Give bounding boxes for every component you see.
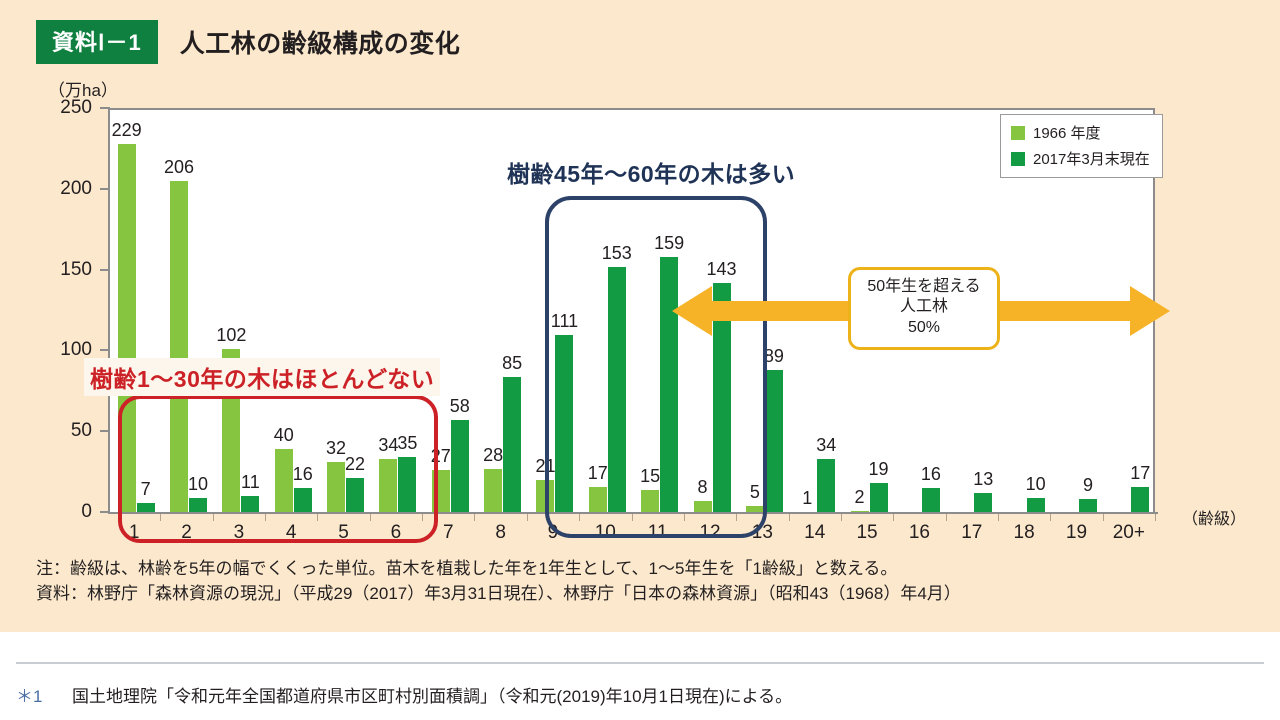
x-axis-tick [1050,514,1051,521]
bar-value-label: 1 [802,488,812,509]
bar-value-label: 9 [1083,475,1093,496]
x-axis-tick-label: 19 [1066,522,1087,544]
legend-swatch-icon [1011,126,1025,140]
y-axis-tick-label: 0 [32,501,92,523]
legend-item-1966: 1966 年度 [1011,122,1150,143]
x-axis-tick [789,514,790,521]
chart-bar [503,377,521,514]
bar-value-label: 19 [869,459,889,480]
x-axis-tick [527,514,528,521]
y-axis-tick [100,349,110,351]
callout-line-2: 人工林 [855,297,993,317]
figure-badge: 資料Ⅰ－1 [36,20,158,64]
bar-value-label: 13 [973,469,993,490]
navy-highlight-box [545,196,767,538]
y-axis-tick [100,269,110,271]
x-axis-tick-label: 16 [909,522,930,544]
red-highlight-box [118,395,438,543]
footer-note: ＊1 国土地理院「令和元年全国都道府県市区町村別面積調」（令和元(2019)年1… [16,682,792,707]
y-axis-tick-label: 50 [32,420,92,442]
x-axis-tick-label: 17 [961,522,982,544]
chart-legend: 1966 年度 2017年3月末現在 [1000,114,1163,178]
y-axis-tick [100,107,110,109]
figure-notes: 注：齢級は、林齢を5年の幅でくくった単位。苗木を植栽した年を1年生として、1〜5… [36,557,961,606]
bar-value-label: 2 [855,487,865,508]
x-axis-tick [998,514,999,521]
y-axis-tick-label: 250 [32,97,92,119]
bar-group-item: 58 [451,110,469,514]
callout-line-1: 50年生を超える [855,277,993,297]
legend-item-2017: 2017年3月末現在 [1011,148,1150,169]
red-annotation-text: 樹齢1〜30年の木はほとんどない [84,358,440,396]
y-axis-tick-label: 200 [32,178,92,200]
bar-group-item: 28 [484,110,502,514]
bar-value-label: 85 [502,353,522,374]
navy-annotation-text: 樹齢45年〜60年の木は多い [507,155,795,189]
x-axis-tick-label: 14 [804,522,825,544]
x-axis-unit-label: （齢級） [1182,505,1246,529]
y-axis-tick [100,430,110,432]
chart-bar [817,459,835,514]
chart-bar [974,493,992,514]
chart-bar [922,488,940,514]
chart-bar [484,469,502,514]
legend-swatch-icon [1011,152,1025,166]
page-title: 人工林の齢級構成の変化 [180,24,461,60]
figure-page: 資料Ⅰ－1 人工林の齢級構成の変化 （万ha） （齢級） 22972061010… [0,0,1280,720]
bar-value-label: 58 [450,396,470,417]
bar-value-label: 17 [1130,463,1150,484]
bar-value-label: 10 [1026,474,1046,495]
x-axis-tick-label: 15 [856,522,877,544]
x-axis-tick [1155,514,1156,521]
percentage-callout: 50年生を超える 人工林 50% [848,267,1000,350]
chart-bar [1131,487,1149,514]
y-axis-tick [100,511,110,513]
figure-panel: 資料Ⅰ－1 人工林の齢級構成の変化 （万ha） （齢級） 22972061010… [0,0,1280,632]
callout-line-3: 50% [855,318,993,338]
x-axis-tick [474,514,475,521]
y-axis-tick-label: 100 [32,339,92,361]
title-row: 資料Ⅰ－1 人工林の齢級構成の変化 [36,20,460,64]
bar-value-label: 16 [921,464,941,485]
x-axis-tick [1103,514,1104,521]
legend-label: 1966 年度 [1033,122,1101,143]
note-line-2: 資料：林野庁「森林資源の現況」（平成29（2017）年3月31日現在）、林野庁「… [36,582,961,607]
note-line-1: 注：齢級は、林齢を5年の幅でくくった単位。苗木を植栽した年を1年生として、1〜5… [36,557,961,582]
y-axis-tick-label: 150 [32,259,92,281]
x-axis-tick-label: 7 [443,522,454,544]
chart-bar [870,483,888,514]
x-axis-tick-label: 8 [495,522,506,544]
x-axis-tick [893,514,894,521]
x-axis-tick-label: 18 [1014,522,1035,544]
footnote-marker: ＊1 [16,682,64,707]
footnote-text: 国土地理院「令和元年全国都道府県市区町村別面積調」（令和元(2019)年10月1… [72,682,792,707]
y-axis-tick [100,188,110,190]
x-axis-tick [841,514,842,521]
bar-value-label: 34 [816,435,836,456]
x-axis-tick [946,514,947,521]
footer-divider [16,662,1264,664]
legend-label: 2017年3月末現在 [1033,148,1150,169]
chart-bar [765,370,783,514]
chart-bar [451,420,469,514]
bar-value-label: 28 [483,445,503,466]
x-axis-tick-label: 20+ [1113,522,1145,544]
